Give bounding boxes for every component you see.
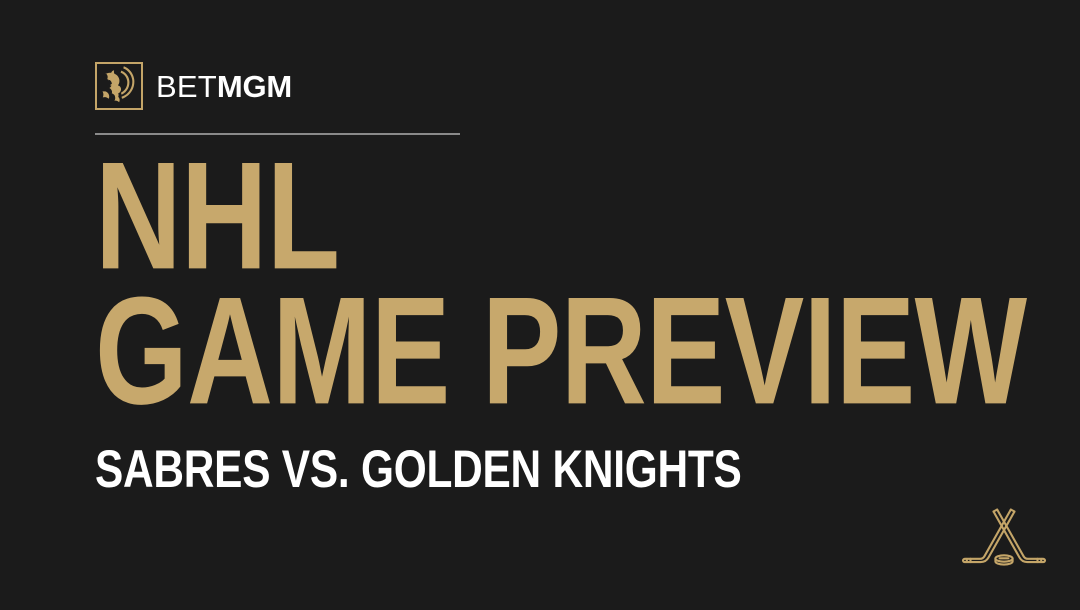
page-title: NHL GAME PREVIEW <box>95 150 1035 414</box>
betmgm-brand-lockup: BETMGM <box>95 61 292 111</box>
betmgm-lion-icon <box>95 62 143 110</box>
wordmark-bet: BET <box>156 71 217 102</box>
nhl-game-preview-poster: BETMGM NHL GAME PREVIEW SABRES VS. GOLDE… <box>0 0 1080 610</box>
wordmark-mgm: MGM <box>217 71 292 102</box>
matchup-subtitle: SABRES VS. GOLDEN KNIGHTS <box>95 443 742 496</box>
headline-line-nhl: NHL <box>95 150 847 282</box>
betmgm-wordmark: BETMGM <box>156 71 292 102</box>
headline-line-game-preview: GAME PREVIEW <box>95 285 842 417</box>
crossed-hockey-sticks-and-puck-icon <box>958 498 1050 590</box>
